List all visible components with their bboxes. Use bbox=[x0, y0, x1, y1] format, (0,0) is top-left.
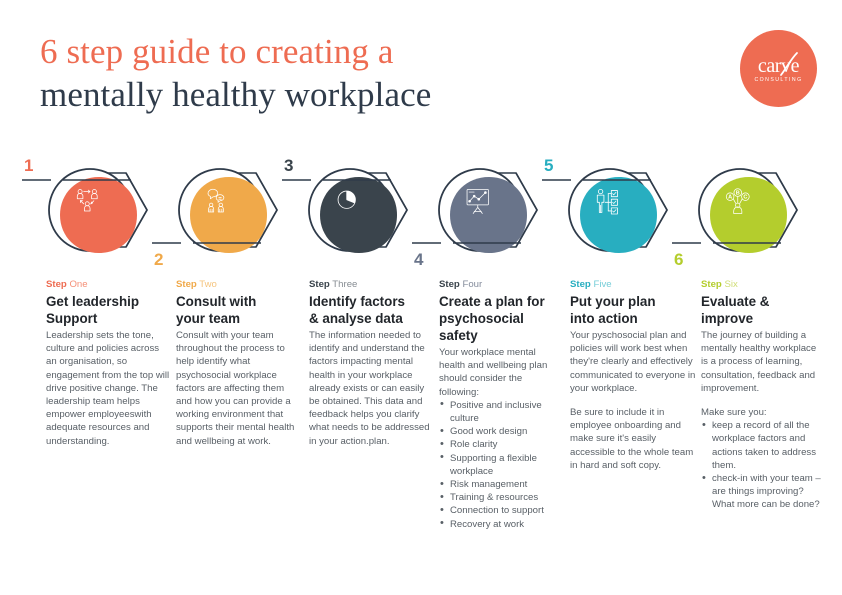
step-label-6: Step Six bbox=[701, 279, 825, 291]
carve-consulting-logo: carve CONSULTING bbox=[740, 30, 817, 107]
step-heading-2: Consult withyour team bbox=[176, 293, 300, 327]
step-bullets-intro: Your workplace mental health and wellbei… bbox=[439, 346, 563, 399]
step-label-ordinal: Four bbox=[462, 279, 482, 290]
step-number-5: 5 bbox=[544, 157, 553, 174]
step-bullets-intro: Make sure you: bbox=[701, 406, 825, 419]
step-number-3: 3 bbox=[284, 157, 293, 174]
step-badge-4: 4 bbox=[423, 155, 555, 265]
step-heading-6: Evaluate &improve bbox=[701, 293, 825, 327]
step-label-ordinal: Three bbox=[332, 279, 357, 290]
step-heading-line: Put your plan bbox=[570, 293, 696, 310]
step-column-3: Step Three Identify factors& analyse dat… bbox=[309, 279, 435, 448]
step-paragraph: Leadership sets the tone, culture and po… bbox=[46, 329, 170, 448]
step-heading-line: & analyse data bbox=[309, 310, 435, 327]
step-badge-5: 5 bbox=[553, 155, 685, 265]
list-item: Training & resources bbox=[439, 491, 563, 504]
step-badge-shape-2 bbox=[163, 155, 295, 265]
step-column-5: Step Five Put your planinto action Your … bbox=[570, 279, 696, 472]
step-colour-blob-5 bbox=[580, 177, 657, 253]
step-heading-line: Get leadership bbox=[46, 293, 170, 310]
step-heading-line: safety bbox=[439, 327, 563, 344]
step-label-4: Step Four bbox=[439, 279, 563, 291]
step-label-word: Step bbox=[309, 279, 330, 290]
logo-swoosh-icon bbox=[780, 52, 798, 76]
step-badge-shape-6 bbox=[683, 155, 815, 265]
step-body-6: The journey of building a mentally healt… bbox=[701, 329, 825, 512]
page-title-line-2: mentally healthy workplace bbox=[40, 73, 640, 116]
logo-wordmark: carve bbox=[740, 56, 817, 76]
logo-subtitle: CONSULTING bbox=[740, 77, 817, 83]
list-item: Role clarity bbox=[439, 438, 563, 451]
step-bullet-list: Positive and inclusive cultureGood work … bbox=[439, 399, 563, 531]
step-label-ordinal: Five bbox=[593, 279, 611, 290]
step-badge-shape-1 bbox=[33, 155, 165, 265]
step-label-5: Step Five bbox=[570, 279, 696, 291]
step-paragraph: Your pyschosocial plan and policies will… bbox=[570, 329, 696, 395]
step-badge-6: ABC 6 bbox=[683, 155, 815, 265]
step-heading-line: into action bbox=[570, 310, 696, 327]
step-body-5: Your pyschosocial plan and policies will… bbox=[570, 329, 696, 472]
step-label-2: Step Two bbox=[176, 279, 300, 291]
list-item: keep a record of all the workplace facto… bbox=[701, 419, 825, 472]
infographic-page: 6 step guide to creating a mentally heal… bbox=[0, 0, 842, 595]
step-number-4: 4 bbox=[414, 251, 423, 268]
step-number-1: 1 bbox=[24, 157, 33, 174]
step-label-word: Step bbox=[701, 279, 722, 290]
step-paragraph: Be sure to include it in employee onboar… bbox=[570, 406, 696, 472]
step-heading-line: Evaluate & bbox=[701, 293, 825, 310]
step-label-1: Step One bbox=[46, 279, 170, 291]
step-paragraph: Consult with your team throughout the pr… bbox=[176, 329, 300, 448]
list-item: Supporting a flexible workplace bbox=[439, 452, 563, 478]
step-heading-line: Create a plan for bbox=[439, 293, 563, 310]
step-column-2: Step Two Consult withyour team Consult w… bbox=[176, 279, 300, 448]
step-column-1: Step One Get leadershipSupport Leadershi… bbox=[46, 279, 170, 448]
step-number-6: 6 bbox=[674, 251, 683, 268]
step-heading-3: Identify factors& analyse data bbox=[309, 293, 435, 327]
step-body-2: Consult with your team throughout the pr… bbox=[176, 329, 300, 448]
step-label-ordinal: Two bbox=[199, 279, 217, 290]
step-label-ordinal: One bbox=[69, 279, 87, 290]
step-colour-blob-2 bbox=[190, 177, 267, 253]
step-heading-line: your team bbox=[176, 310, 300, 327]
step-body-1: Leadership sets the tone, culture and po… bbox=[46, 329, 170, 448]
step-heading-line: psychosocial bbox=[439, 310, 563, 327]
list-item: check-in with your team – are things imp… bbox=[701, 472, 825, 512]
list-item: Good work design bbox=[439, 425, 563, 438]
list-item: Connection to support bbox=[439, 504, 563, 517]
step-heading-1: Get leadershipSupport bbox=[46, 293, 170, 327]
step-paragraph: The information needed to identify and u… bbox=[309, 329, 435, 448]
step-heading-line: Support bbox=[46, 310, 170, 327]
step-heading-line: improve bbox=[701, 310, 825, 327]
step-badge-shape-3 bbox=[293, 155, 425, 265]
step-column-4: Step Four Create a plan forpsychosocials… bbox=[439, 279, 563, 531]
step-badge-3: 3 bbox=[293, 155, 425, 265]
step-badge-2: 2 bbox=[163, 155, 295, 265]
page-title-line-1: 6 step guide to creating a bbox=[40, 30, 640, 73]
step-label-word: Step bbox=[46, 279, 67, 290]
step-colour-blob-1 bbox=[60, 177, 137, 253]
step-body-3: The information needed to identify and u… bbox=[309, 329, 435, 448]
step-label-word: Step bbox=[570, 279, 591, 290]
step-heading-line: Identify factors bbox=[309, 293, 435, 310]
step-label-word: Step bbox=[439, 279, 460, 290]
step-heading-5: Put your planinto action bbox=[570, 293, 696, 327]
step-number-2: 2 bbox=[154, 251, 163, 268]
step-paragraph: The journey of building a mentally healt… bbox=[701, 329, 825, 395]
step-body-4: Your workplace mental health and wellbei… bbox=[439, 346, 563, 531]
list-item: Risk management bbox=[439, 478, 563, 491]
step-badge-1: 1 bbox=[33, 155, 165, 265]
step-heading-4: Create a plan forpsychosocialsafety bbox=[439, 293, 563, 344]
list-item: Recovery at work bbox=[439, 518, 563, 531]
step-label-word: Step bbox=[176, 279, 197, 290]
step-label-ordinal: Six bbox=[724, 279, 737, 290]
step-badge-shape-4 bbox=[423, 155, 555, 265]
step-column-6: Step Six Evaluate &improve The journey o… bbox=[701, 279, 825, 512]
step-colour-blob-3 bbox=[320, 177, 397, 253]
page-title: 6 step guide to creating a mentally heal… bbox=[40, 30, 640, 116]
step-badge-shape-5 bbox=[553, 155, 685, 265]
step-colour-blob-6 bbox=[710, 177, 787, 253]
step-label-3: Step Three bbox=[309, 279, 435, 291]
step-bullet-list: keep a record of all the workplace facto… bbox=[701, 419, 825, 511]
step-colour-blob-4 bbox=[450, 177, 527, 253]
step-heading-line: Consult with bbox=[176, 293, 300, 310]
list-item: Positive and inclusive culture bbox=[439, 399, 563, 425]
